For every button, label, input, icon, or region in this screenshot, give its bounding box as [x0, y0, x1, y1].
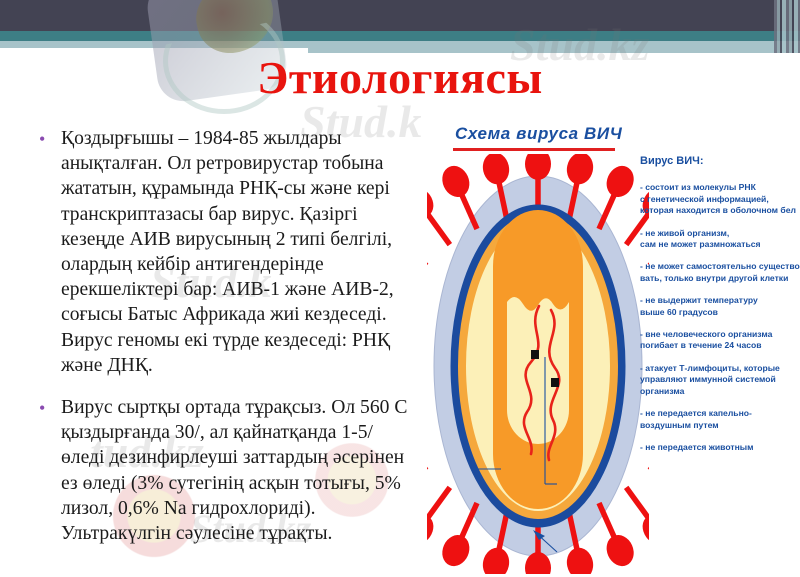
gene-marker	[551, 378, 559, 387]
paragraph-text: Вирус сыртқы ортада тұрақсыз. Ол 560 С қ…	[61, 397, 407, 544]
diagram-panel: Схема вируса ВИЧ	[421, 108, 800, 577]
banner-teal-band	[0, 31, 800, 41]
bullet-icon: •	[39, 396, 45, 421]
fact-item: - состоит из молекулы РНК с генетической…	[640, 182, 800, 216]
hiv-virus-illustration	[427, 154, 649, 574]
fact-item: - не передается животным	[640, 442, 800, 453]
bullet-icon: •	[39, 127, 45, 152]
bullet-paragraph: • Вирус сыртқы ортада тұрақсыз. Ол 560 С…	[36, 395, 408, 546]
banner-navy-band	[0, 0, 800, 31]
facts-heading: Вирус ВИЧ:	[640, 156, 800, 167]
fact-item: - не может самостоятельно существо вать,…	[640, 261, 800, 284]
page-title: Этиологиясы	[0, 55, 800, 101]
fact-item: - не живой организм, сам не может размно…	[640, 228, 800, 251]
fact-item: - атакует Т-лимфоциты, которые управляют…	[640, 363, 800, 397]
fact-item: - не передается капельно- воздушным путе…	[640, 408, 800, 431]
diagram-title: Схема вируса ВИЧ	[455, 124, 622, 144]
gene-marker	[531, 350, 539, 359]
diagram-title-underline	[453, 148, 615, 151]
fact-item: - вне человеческого организма погибает в…	[640, 329, 800, 352]
fact-item: - не выдержит температуру выше 60 градус…	[640, 295, 800, 318]
body-text-block: • Қоздырғышы – 1984-85 жылдары анықталға…	[36, 126, 408, 563]
virus-core-inner	[507, 297, 569, 444]
bullet-paragraph: • Қоздырғышы – 1984-85 жылдары анықталға…	[36, 126, 408, 378]
paragraph-text: Қоздырғышы – 1984-85 жылдары анықталған.…	[61, 128, 394, 376]
slide-root: Stud.kz Stud.kz Stud.k Stud.kz tud.kz St…	[0, 0, 800, 577]
banner-right-stripes	[774, 0, 800, 53]
virus-facts-list: Вирус ВИЧ: - состоит из молекулы РНК с г…	[640, 156, 800, 464]
